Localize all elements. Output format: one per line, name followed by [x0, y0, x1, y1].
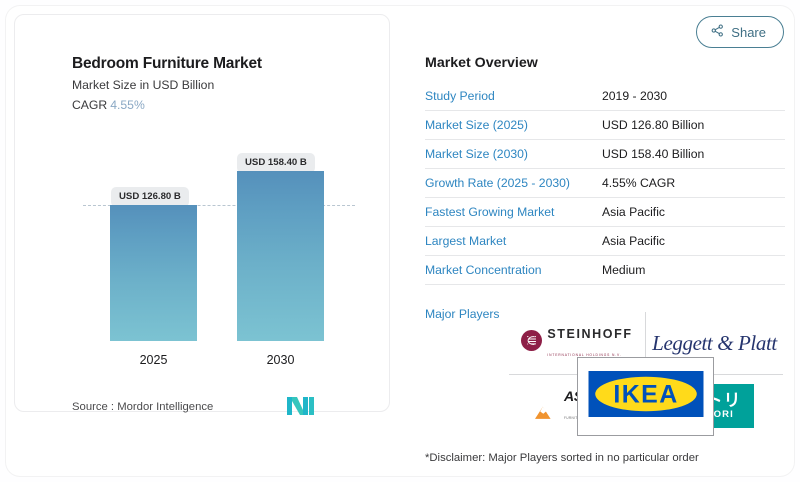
- mordor-intelligence-logo-icon: [287, 397, 315, 415]
- major-players-title: Major Players: [425, 307, 500, 321]
- chart-subtitle: Market Size in USD Billion: [72, 78, 214, 92]
- bar-chart-plot: USD 126.80 B USD 158.40 B 2025 2030: [15, 125, 391, 375]
- row-label: Market Size (2025): [425, 118, 602, 132]
- bar-2030[interactable]: [237, 171, 324, 341]
- chart-title: Bedroom Furniture Market: [72, 55, 262, 73]
- row-label: Market Size (2030): [425, 147, 602, 161]
- row-label: Growth Rate (2025 - 2030): [425, 176, 602, 190]
- bar-data-label-2025: USD 126.80 B: [111, 187, 189, 207]
- row-value: 2019 - 2030: [602, 89, 667, 103]
- x-axis-label-2025: 2025: [110, 353, 197, 367]
- table-row: Growth Rate (2025 - 2030) 4.55% CAGR: [425, 169, 785, 198]
- chart-cagr-label: CAGR: [72, 98, 107, 112]
- ashley-mountain-icon: [535, 405, 561, 424]
- row-value: USD 158.40 Billion: [602, 147, 704, 161]
- x-axis-label-2030: 2030: [237, 353, 324, 367]
- row-label: Market Concentration: [425, 263, 602, 277]
- table-row: Largest Market Asia Pacific: [425, 227, 785, 256]
- svg-text:IKEA: IKEA: [613, 381, 678, 409]
- table-row: Market Size (2025) USD 126.80 Billion: [425, 111, 785, 140]
- bar-2025[interactable]: [110, 205, 197, 341]
- steinhoff-text: STEINHOFF INTERNATIONAL HOLDINGS N.V.: [547, 325, 632, 361]
- major-players-disclaimer: *Disclaimer: Major Players sorted in no …: [425, 452, 699, 464]
- leggett-platt-text: Leggett & Platt: [652, 331, 777, 356]
- row-value: 4.55% CAGR: [602, 176, 675, 190]
- bar-data-label-2030: USD 158.40 B: [237, 153, 315, 173]
- row-label: Fastest Growing Market: [425, 205, 602, 219]
- chart-panel: Bedroom Furniture Market Market Size in …: [14, 14, 390, 412]
- logo-ikea: IKEA ®: [577, 357, 714, 436]
- steinhoff-mark-icon: [521, 330, 542, 356]
- row-value: Asia Pacific: [602, 205, 665, 219]
- ikea-mark-icon: IKEA ®: [588, 371, 704, 422]
- steinhoff-name: STEINHOFF: [547, 327, 632, 341]
- market-snapshot-page: Bedroom Furniture Market Market Size in …: [0, 0, 800, 482]
- row-label: Largest Market: [425, 234, 602, 248]
- table-row: Fastest Growing Market Asia Pacific: [425, 198, 785, 227]
- table-row: Market Size (2030) USD 158.40 Billion: [425, 140, 785, 169]
- chart-cagr: CAGR4.55%: [72, 98, 145, 112]
- row-value: Asia Pacific: [602, 234, 665, 248]
- table-row: Market Concentration Medium: [425, 256, 785, 285]
- major-players-logo-grid: STEINHOFF INTERNATIONAL HOLDINGS N.V. Le…: [509, 312, 783, 436]
- chart-source: Source : Mordor Intelligence: [72, 401, 213, 413]
- row-label: Study Period: [425, 89, 602, 103]
- row-value: USD 126.80 Billion: [602, 118, 704, 132]
- market-overview-panel: Market Overview Study Period 2019 - 2030…: [414, 14, 788, 470]
- table-row: Study Period 2019 - 2030: [425, 82, 785, 111]
- market-overview-table: Study Period 2019 - 2030 Market Size (20…: [425, 82, 785, 285]
- row-value: Medium: [602, 263, 645, 277]
- svg-text:®: ®: [691, 381, 696, 389]
- market-overview-title: Market Overview: [425, 55, 538, 71]
- chart-cagr-value: 4.55%: [110, 98, 145, 112]
